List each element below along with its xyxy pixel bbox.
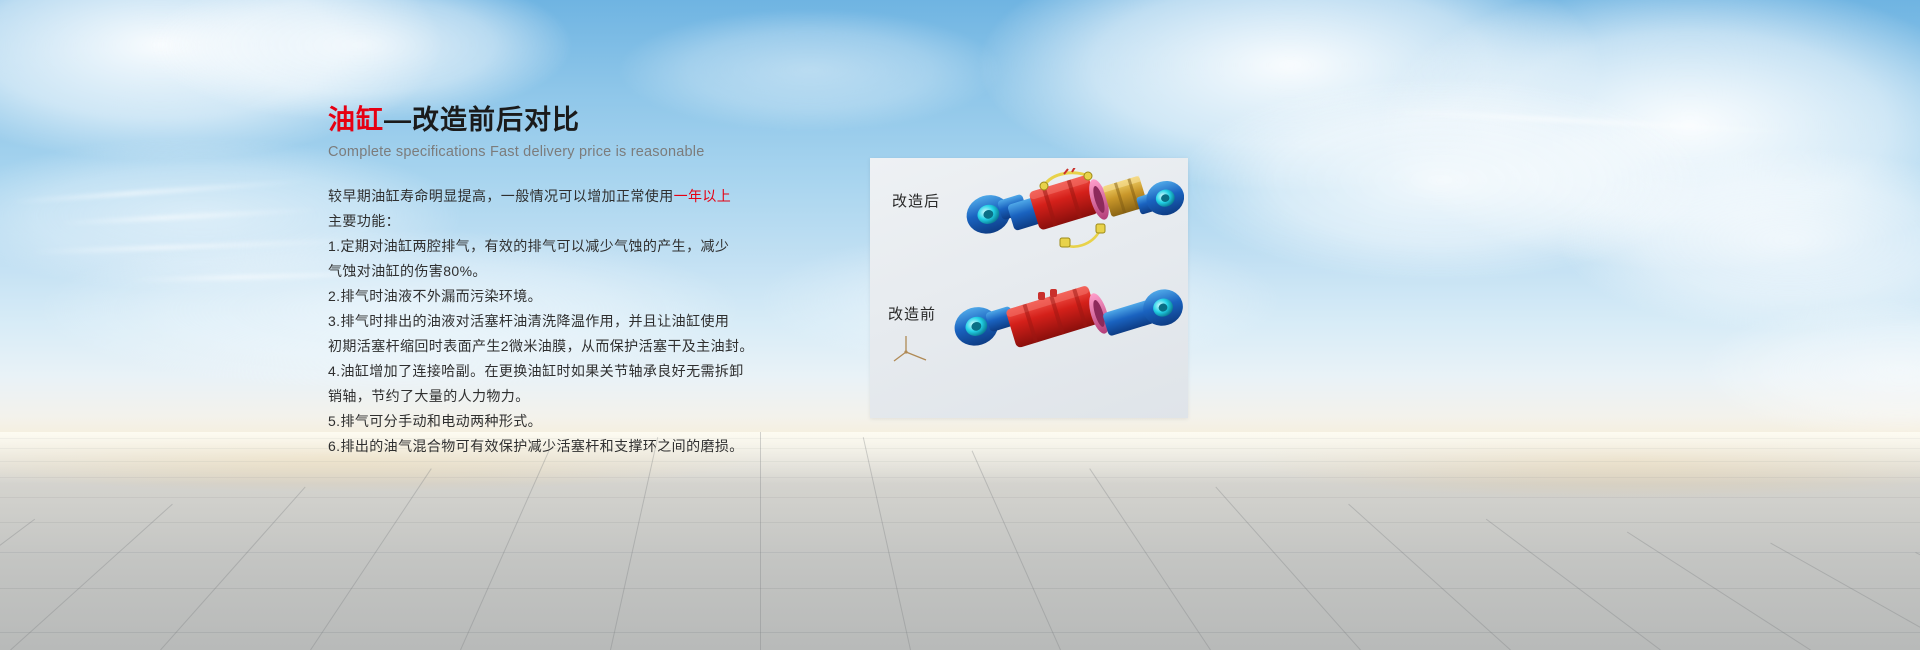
ground-line-horizontal xyxy=(0,448,1920,449)
ground-line-horizontal xyxy=(0,588,1920,589)
page-title-highlight: 油缸 xyxy=(328,105,384,135)
feature-line-text: 1.定期对油缸两腔排气，有效的排气可以减少气蚀的产生，减少 xyxy=(328,238,729,254)
feature-line: 较早期油缸寿命明显提高，一般情况可以增加正常使用一年以上 xyxy=(328,184,748,209)
feature-line-text: 4.油缸增加了连接哈副。在更换油缸时如果关节轴承良好无需拆卸 xyxy=(328,363,744,379)
hydraulic-cylinder-before-image xyxy=(950,276,1184,410)
feature-description-list: 较早期油缸寿命明显提高，一般情况可以增加正常使用一年以上主要功能：1.定期对油缸… xyxy=(328,184,748,459)
feature-line: 4.油缸增加了连接哈副。在更换油缸时如果关节轴承良好无需拆卸 xyxy=(328,359,748,384)
ground-line-horizontal xyxy=(0,461,1920,462)
ground-line-horizontal xyxy=(0,477,1920,478)
ground-line-vertical xyxy=(310,468,432,650)
feature-line-text: 6.排出的油气混合物可有效保护减少活塞杆和支撑环之间的磨损。 xyxy=(328,438,744,454)
feature-line-text: 气蚀对油缸的伤害80%。 xyxy=(328,263,487,279)
feature-line-text: 较早期油缸寿命明显提高，一般情况可以增加正常使用 xyxy=(328,188,674,204)
feature-line: 气蚀对油缸的伤害80%。 xyxy=(328,259,748,284)
ground-line-vertical xyxy=(160,487,305,650)
page-title: 油缸—改造前后对比 xyxy=(328,104,748,136)
label-after-modification: 改造后 xyxy=(892,190,940,211)
feature-line-text: 初期活塞杆缩回时表面产生2微米油膜，从而保护活塞干及主油封。 xyxy=(328,338,754,354)
ground-line-vertical xyxy=(1770,543,1920,650)
feature-line-highlight: 一年以上 xyxy=(674,188,732,204)
feature-line-text: 销轴，节约了大量的人力物力。 xyxy=(328,388,530,404)
page-subtitle: Complete specifications Fast delivery pr… xyxy=(328,144,748,160)
coordinate-axis-icon xyxy=(892,334,930,368)
ground-line-horizontal xyxy=(0,497,1920,498)
ground-line-vertical xyxy=(760,432,761,650)
ground-plane xyxy=(0,432,1920,650)
banner-text-block: 油缸—改造前后对比 Complete specifications Fast d… xyxy=(328,104,748,459)
feature-line: 6.排出的油气混合物可有效保护减少活塞杆和支撑环之间的磨损。 xyxy=(328,434,748,459)
feature-line: 5.排气可分手动和电动两种形式。 xyxy=(328,409,748,434)
feature-line: 主要功能： xyxy=(328,209,748,234)
feature-line-text: 3.排气时排出的油液对活塞杆油清洗降温作用，并且让油缸使用 xyxy=(328,313,729,329)
ground-line-horizontal xyxy=(0,552,1920,553)
label-before-modification: 改造前 xyxy=(888,303,936,324)
feature-line: 销轴，节约了大量的人力物力。 xyxy=(328,384,748,409)
feature-line-text: 5.排气可分手动和电动两种形式。 xyxy=(328,413,542,429)
ground-line-horizontal xyxy=(0,438,1920,439)
ground-line-horizontal xyxy=(0,522,1920,523)
feature-line-text: 2.排气时油液不外漏而污染环境。 xyxy=(328,288,542,304)
ground-line-vertical xyxy=(1486,519,1661,650)
page-title-rest: —改造前后对比 xyxy=(384,105,580,135)
feature-line: 1.定期对油缸两腔排气，有效的排气可以减少气蚀的产生，减少 xyxy=(328,234,748,259)
hydraulic-cylinder-after-image xyxy=(960,168,1184,292)
feature-line: 3.排气时排出的油液对活塞杆油清洗降温作用，并且让油缸使用 xyxy=(328,309,748,334)
hero-banner: 油缸—改造前后对比 Complete specifications Fast d… xyxy=(0,0,1920,650)
ground-line-horizontal xyxy=(0,632,1920,633)
product-comparison-panel: 改造后 改造前 xyxy=(870,158,1188,418)
feature-line: 2.排气时油液不外漏而污染环境。 xyxy=(328,284,748,309)
ground-line-vertical xyxy=(1215,487,1360,650)
feature-line-text: 主要功能： xyxy=(328,213,400,229)
ground-line-vertical xyxy=(1089,468,1211,650)
ground-line-vertical xyxy=(1348,504,1511,650)
ground-line-vertical xyxy=(10,504,173,650)
feature-line: 初期活塞杆缩回时表面产生2微米油膜，从而保护活塞干及主油封。 xyxy=(328,334,748,359)
ground-line-vertical xyxy=(1915,552,1920,650)
